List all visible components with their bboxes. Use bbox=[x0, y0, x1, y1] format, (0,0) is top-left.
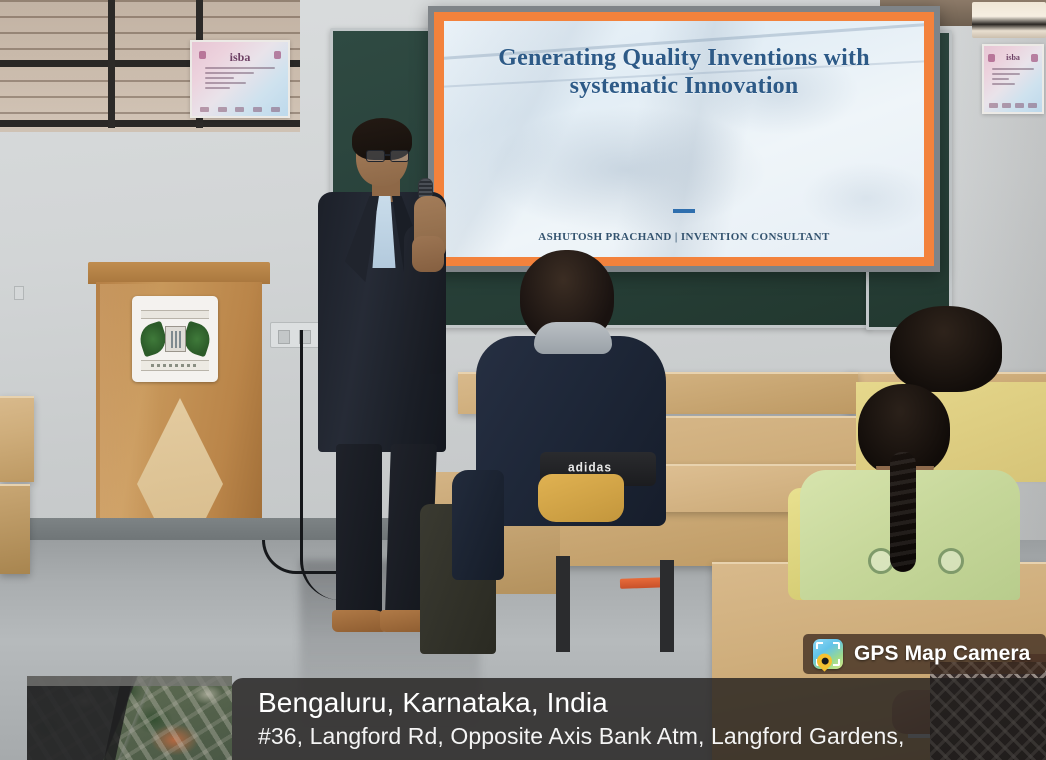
desk-left-upper bbox=[0, 396, 34, 482]
blind-frame-horizontal bbox=[0, 120, 300, 127]
poster-logo: isba bbox=[230, 50, 251, 65]
poster-sponsor-logos bbox=[989, 103, 1038, 108]
crest-banner-top bbox=[141, 310, 209, 319]
desk-leg bbox=[556, 556, 570, 652]
map-thumbnail[interactable] bbox=[27, 676, 232, 760]
slide-content: Generating Quality Inventions with syste… bbox=[444, 21, 924, 257]
poster-text-lines bbox=[205, 67, 274, 89]
student-arm bbox=[452, 470, 504, 580]
student-hood bbox=[534, 322, 612, 354]
bag-brand-text: adidas bbox=[568, 459, 612, 474]
projection-screen: Generating Quality Inventions with syste… bbox=[428, 6, 940, 272]
poster-mark-icon bbox=[199, 51, 206, 59]
slide-title: Generating Quality Inventions with syste… bbox=[444, 45, 924, 101]
speaker-leg-left bbox=[336, 444, 382, 612]
poster-text-lines bbox=[992, 68, 1034, 85]
location-info-bar: Bengaluru, Karnataka, India #36, Langfor… bbox=[231, 678, 1046, 760]
gps-map-camera-watermark: GPS Map Camera bbox=[803, 634, 1046, 674]
map-top-edge bbox=[27, 676, 232, 686]
speaker-hand-lower bbox=[412, 236, 444, 272]
desk-left-lower bbox=[0, 484, 30, 574]
watermark-label: GPS Map Camera bbox=[854, 642, 1030, 666]
ceiling-light-fixture bbox=[972, 2, 1046, 38]
map-pin-icon bbox=[814, 650, 835, 671]
wall-certificate-right: isba bbox=[982, 44, 1044, 114]
wall-certificate-left: isba bbox=[190, 40, 290, 118]
yellow-jacket-on-desk bbox=[538, 474, 624, 522]
blind-frame-vertical bbox=[108, 0, 115, 128]
student-braid bbox=[890, 452, 916, 572]
kurta-embroidery-motif bbox=[938, 548, 964, 574]
gps-map-camera-app-icon bbox=[813, 639, 843, 669]
poster-sponsor-logos bbox=[200, 107, 281, 112]
presentation-slide: Generating Quality Inventions with syste… bbox=[434, 12, 934, 266]
poster-logo: isba bbox=[1006, 53, 1020, 62]
slide-accent-dash bbox=[673, 209, 695, 213]
poster-mark-icon bbox=[274, 51, 281, 59]
photo-canvas: isba isba Generating Quality Inventions … bbox=[0, 0, 1046, 760]
wall-light-switch bbox=[14, 286, 24, 300]
podium-top bbox=[88, 262, 270, 284]
poster-mark-icon bbox=[1031, 54, 1038, 62]
location-address-line: #36, Langford Rd, Opposite Axis Bank Atm… bbox=[258, 722, 1046, 751]
college-crest-emblem bbox=[132, 296, 218, 382]
glasses-icon bbox=[366, 150, 412, 162]
student-hair-back-right bbox=[890, 306, 1002, 392]
crest-shield-icon bbox=[165, 326, 186, 352]
crest-banner-bottom bbox=[141, 360, 209, 371]
desk-leg bbox=[660, 560, 674, 652]
location-city-line: Bengaluru, Karnataka, India bbox=[258, 686, 1046, 720]
slide-presenter-credit: ASHUTOSH PRACHAND | INVENTION CONSULTANT bbox=[444, 231, 924, 243]
poster-mark-icon bbox=[988, 54, 995, 62]
